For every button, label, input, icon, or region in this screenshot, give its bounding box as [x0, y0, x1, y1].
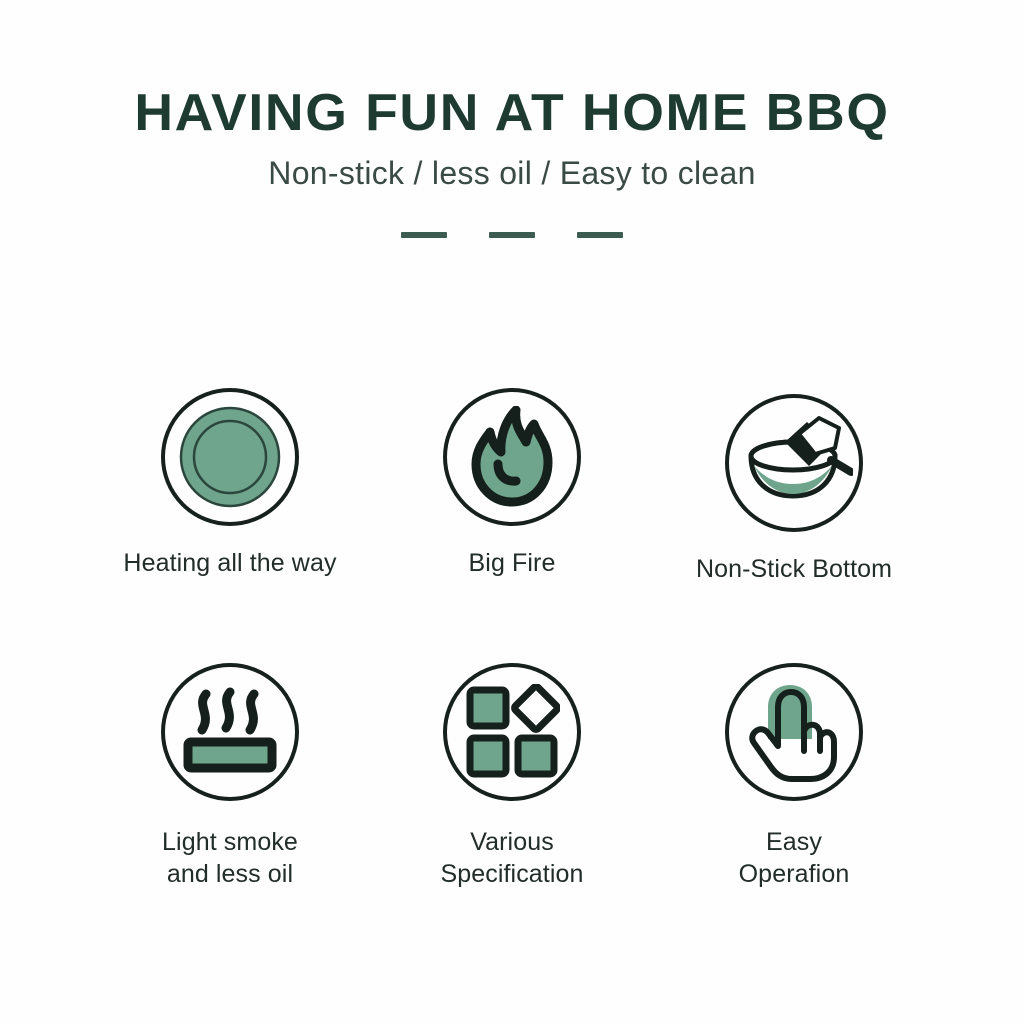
feature-icon-frame [161, 388, 299, 526]
page-subtitle: Non-stick / less oil / Easy to clean [0, 155, 1024, 192]
infographic-page: HAVING FUN AT HOME BBQ Non-stick / less … [0, 0, 1024, 1024]
feature-item-heating[interactable]: Heating all the way [89, 388, 371, 579]
feature-row-1: Heating all the way Big Fire [0, 388, 1024, 585]
pan-disc-icon [171, 398, 289, 516]
feature-grid: Heating all the way Big Fire [0, 388, 1024, 890]
feature-label: Light smoke and less oil [162, 827, 298, 890]
feature-item-nonstick[interactable]: Non-Stick Bottom [653, 388, 935, 585]
feature-label: Various Specification [440, 827, 583, 890]
divider-dash [577, 232, 623, 238]
feature-icon-frame [443, 663, 581, 801]
feature-icon-frame [725, 663, 863, 801]
feature-icon-frame [161, 663, 299, 801]
feature-item-various-spec[interactable]: Various Specification [371, 663, 653, 890]
smoke-grill-icon [178, 684, 282, 780]
feature-item-big-fire[interactable]: Big Fire [371, 388, 653, 579]
feature-label: Non-Stick Bottom [696, 554, 892, 585]
shapes-grid-icon [464, 684, 560, 780]
nonstick-pan-spatula-icon [735, 404, 853, 522]
feature-item-light-smoke[interactable]: Light smoke and less oil [89, 663, 371, 890]
feature-label: Easy Operafion [739, 827, 850, 890]
feature-item-easy-operation[interactable]: Easy Operafion [653, 663, 935, 890]
page-title: HAVING FUN AT HOME BBQ [0, 86, 1024, 141]
feature-row-2: Light smoke and less oil Various Specifi… [0, 663, 1024, 890]
feature-icon-frame [725, 394, 863, 532]
flame-icon [464, 406, 560, 508]
tap-hand-icon [744, 679, 844, 785]
divider-dash [489, 232, 535, 238]
feature-icon-frame [443, 388, 581, 526]
divider-dash [401, 232, 447, 238]
header: HAVING FUN AT HOME BBQ Non-stick / less … [0, 86, 1024, 192]
feature-label: Heating all the way [123, 548, 336, 579]
dash-divider [0, 232, 1024, 238]
feature-label: Big Fire [469, 548, 556, 579]
